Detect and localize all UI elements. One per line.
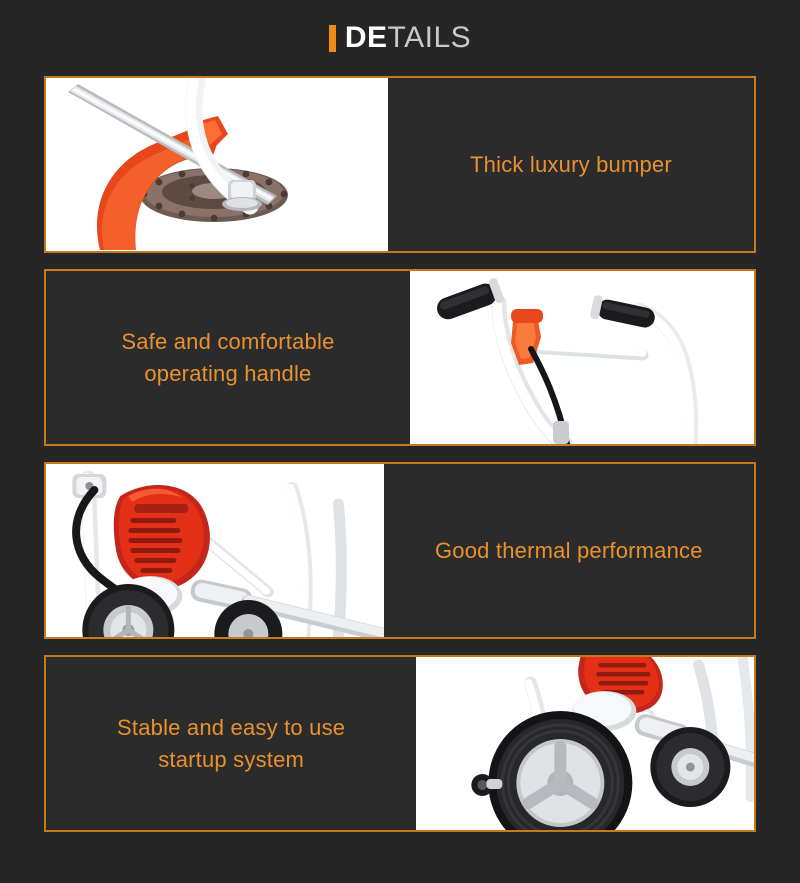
- card-caption: Stable and easy to use startup system: [117, 712, 345, 776]
- card-photo-bumper: [46, 78, 388, 251]
- title-accent-bar: [329, 25, 336, 52]
- feature-card[interactable]: Safe and comfortable operating handle: [44, 269, 756, 446]
- card-caption: Good thermal performance: [435, 535, 703, 567]
- card-caption: Thick luxury bumper: [470, 149, 672, 181]
- card-caption-line: Stable and easy to use: [117, 715, 345, 740]
- page-title: DE TAILS: [329, 23, 471, 53]
- card-caption-line: operating handle: [144, 361, 311, 386]
- page-title-bold: DE: [345, 23, 388, 53]
- page-title-light: TAILS: [388, 23, 472, 53]
- card-photo-wheels: [416, 657, 754, 830]
- card-photo-engine: [46, 464, 384, 637]
- card-caption-panel: Stable and easy to use startup system: [46, 657, 416, 830]
- feature-card[interactable]: Good thermal performance: [44, 462, 756, 639]
- card-caption-panel: Good thermal performance: [384, 464, 754, 637]
- card-caption-panel: Thick luxury bumper: [388, 78, 754, 251]
- feature-card-list: Thick luxury bumper Safe and comfortable…: [0, 76, 800, 832]
- card-caption: Safe and comfortable operating handle: [121, 326, 334, 390]
- card-photo-handle: [410, 271, 754, 444]
- card-caption-panel: Safe and comfortable operating handle: [46, 271, 410, 444]
- feature-card[interactable]: Thick luxury bumper: [44, 76, 756, 253]
- card-caption-line: Safe and comfortable: [121, 329, 334, 354]
- feature-card[interactable]: Stable and easy to use startup system: [44, 655, 756, 832]
- card-caption-line: startup system: [158, 747, 304, 772]
- page-header: DE TAILS: [0, 0, 800, 76]
